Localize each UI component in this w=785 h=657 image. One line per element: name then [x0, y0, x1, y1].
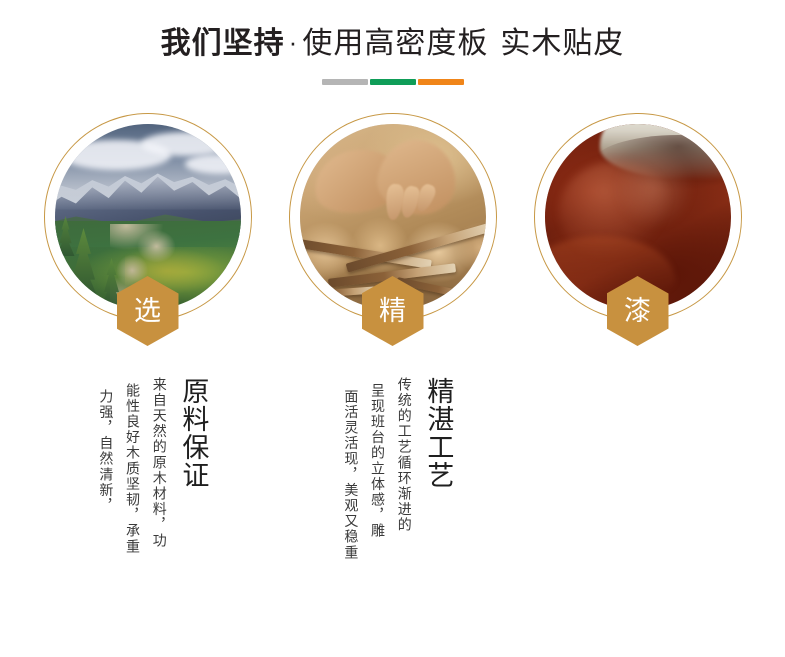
page-title: 我们坚持·使用高密度板实木贴皮	[0, 26, 785, 62]
caption-column: 能性良好木质坚韧，承重	[120, 377, 142, 555]
caption-column: 面活灵活现，美观又稳重	[339, 377, 361, 561]
title-divider	[322, 79, 464, 85]
caption-column: 呈现班台的立体感，雕	[365, 377, 387, 539]
page-title-separator: ·	[285, 27, 303, 57]
badge-character-2: 精	[379, 298, 406, 325]
medallion-ring-2: 精	[289, 113, 497, 321]
divider-segment-orange	[418, 79, 464, 85]
divider-segment-green	[370, 79, 416, 85]
caption-title-2: 精湛工艺	[423, 377, 452, 489]
divider-segment-gray	[322, 79, 368, 85]
feature-cards: 选 原料保证 来自天然的原木材料，功 能性良好木质坚韧，承重 力强，自然清新，	[0, 113, 785, 587]
caption-column: 来自天然的原木材料，功	[147, 377, 169, 549]
caption-column: 传统的工艺循环渐进的	[392, 377, 414, 533]
badge-character-1: 选	[134, 298, 161, 325]
caption-block-1: 原料保证 来自天然的原木材料，功 能性良好木质坚韧，承重 力强，自然清新，	[89, 377, 207, 587]
caption-columns-2: 传统的工艺循环渐进的 呈现班台的立体感，雕 面活灵活现，美观又稳重	[334, 377, 414, 561]
caption-column: 力强，自然清新，	[94, 377, 116, 514]
feature-card-craftsmanship: 精 精湛工艺 传统的工艺循环渐进的 呈现班台的立体感，雕 面活灵活现，美观又稳重	[270, 113, 515, 587]
caption-block-2: 精湛工艺 传统的工艺循环渐进的 呈现班台的立体感，雕 面活灵活现，美观又稳重	[334, 377, 452, 587]
feature-card-raw-material: 选 原料保证 来自天然的原木材料，功 能性良好木质坚韧，承重 力强，自然清新，	[25, 113, 270, 587]
page-title-strong: 我们坚持	[161, 27, 285, 60]
lacquer-gloss-highlight	[615, 146, 693, 228]
feature-card-lacquer: 漆	[515, 113, 760, 587]
medallion-ring-3: 漆	[534, 113, 742, 321]
page-title-rest-b: 实木贴皮	[500, 27, 624, 60]
cloud-shape	[141, 132, 231, 156]
badge-character-3: 漆	[624, 298, 651, 325]
page-title-rest-a: 使用高密度板	[302, 27, 488, 60]
page-header: 我们坚持·使用高密度板实木贴皮	[0, 0, 785, 85]
caption-columns-1: 来自天然的原木材料，功 能性良好木质坚韧，承重 力强，自然清新，	[89, 377, 169, 555]
medallion-ring-1: 选	[44, 113, 252, 321]
caption-title-1: 原料保证	[178, 377, 207, 489]
